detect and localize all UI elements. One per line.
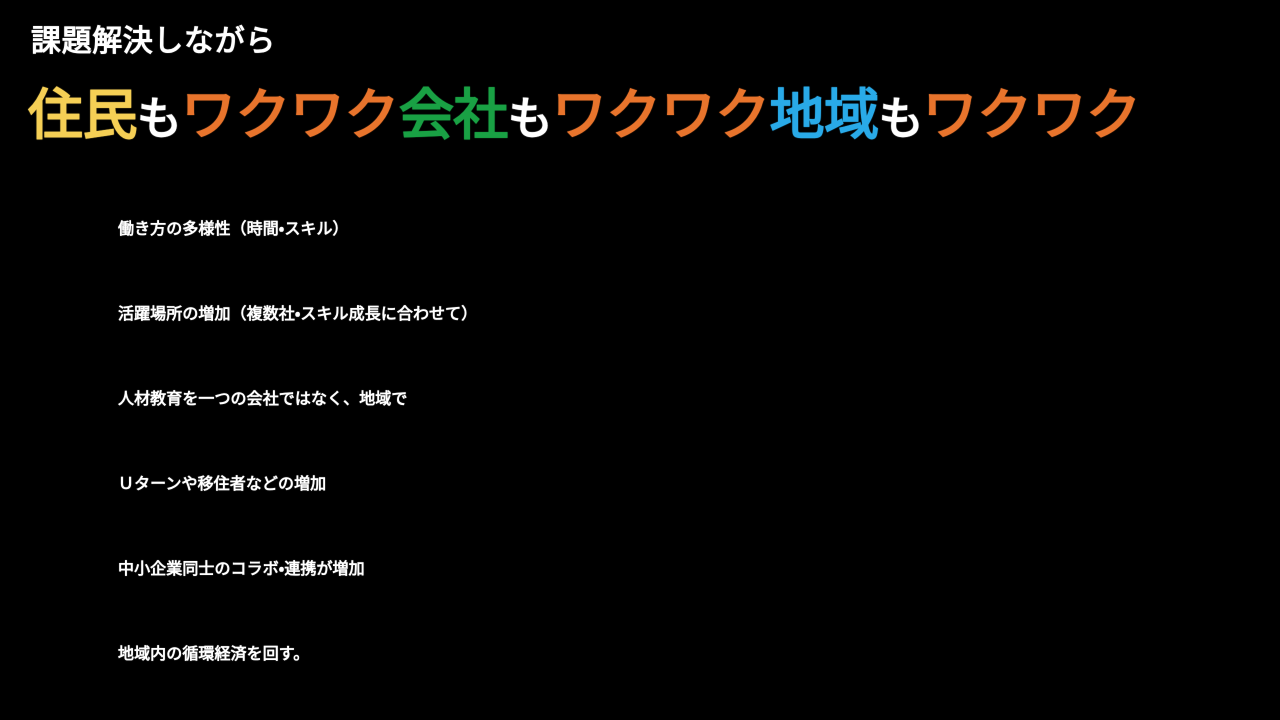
headline-segment-mo-3: も <box>879 86 923 152</box>
headline-segment-wakuwaku-2: ワクワク <box>552 82 770 148</box>
headline-segment-kaisha: 会社 <box>399 82 508 148</box>
body-line: 人材教育を一つの会社ではなく、地域で <box>118 356 1258 441</box>
kicker-text: 課題解決しながら <box>31 24 276 60</box>
headline-segment-jumin: 住民 <box>28 82 137 148</box>
headline: 住民もワクワク会社もワクワク地域もワクワク <box>28 82 1140 152</box>
headline-segment-wakuwaku-3: ワクワク <box>923 82 1141 148</box>
headline-segment-mo-1: も <box>137 86 181 152</box>
body-line: 活躍場所の増加（複数社・スキル成長に合わせて） <box>118 271 1258 356</box>
headline-segment-mo-2: も <box>508 86 552 152</box>
body-line: 地域内の循環経済を回す。 <box>118 611 1258 696</box>
body-line: Ｕターンや移住者などの増加 <box>118 441 1258 526</box>
body-line: 働き方の多様性（時間・スキル） <box>118 186 1258 271</box>
headline-segment-chiiki: 地域 <box>770 82 879 148</box>
slide-canvas: 課題解決しながら 住民もワクワク会社もワクワク地域もワクワク 働き方の多様性（時… <box>0 0 1280 720</box>
body-list: 働き方の多様性（時間・スキル） 活躍場所の増加（複数社・スキル成長に合わせて） … <box>118 186 1258 696</box>
headline-segment-wakuwaku-1: ワクワク <box>181 82 399 148</box>
body-line: 中小企業同士のコラボ・連携が増加 <box>118 526 1258 611</box>
